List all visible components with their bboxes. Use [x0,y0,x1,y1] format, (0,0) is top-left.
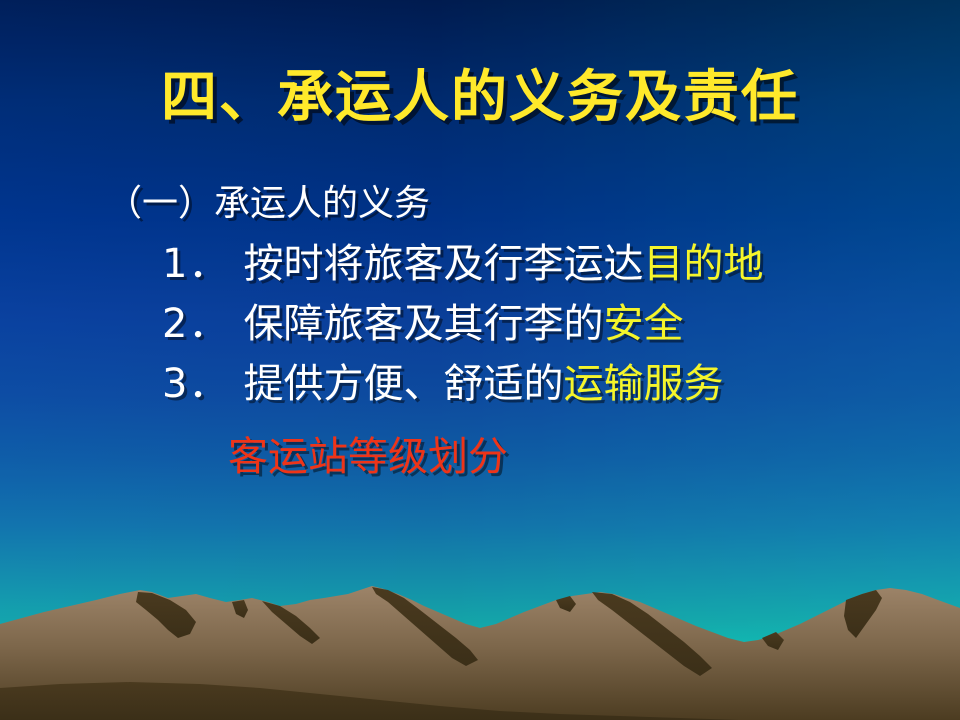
presentation-slide: 四、承运人的义务及责任 （一）承运人的义务 1．按时将旅客及行李运达目的地 2．… [0,0,960,720]
list-item-highlight: 运输服务 [563,361,723,407]
list-item-highlight: 安全 [603,301,683,347]
list-item-number: 2． [162,301,229,347]
slide-note: 客运站等级划分 [228,424,960,482]
slide-body: （一）承运人的义务 1．按时将旅客及行李运达目的地 2．保障旅客及其行李的安全 … [0,186,960,482]
list-item-text: 保障旅客及其行李的 [243,301,603,347]
list-item-highlight: 目的地 [643,241,763,287]
slide-title: 四、承运人的义务及责任 [0,52,960,133]
slide-subtitle: （一）承运人的义务 [106,186,960,222]
list-item-number: 3． [162,361,229,407]
list-item-number: 1． [162,241,229,287]
list-item: 3．提供方便、舒适的运输服务 [162,364,960,404]
list-item-text: 按时将旅客及行李运达 [243,241,643,287]
list-item: 2．保障旅客及其行李的安全 [162,304,960,344]
list-item-text: 提供方便、舒适的 [243,361,563,407]
list-item: 1．按时将旅客及行李运达目的地 [162,244,960,284]
mountain-silhouette [0,580,960,720]
